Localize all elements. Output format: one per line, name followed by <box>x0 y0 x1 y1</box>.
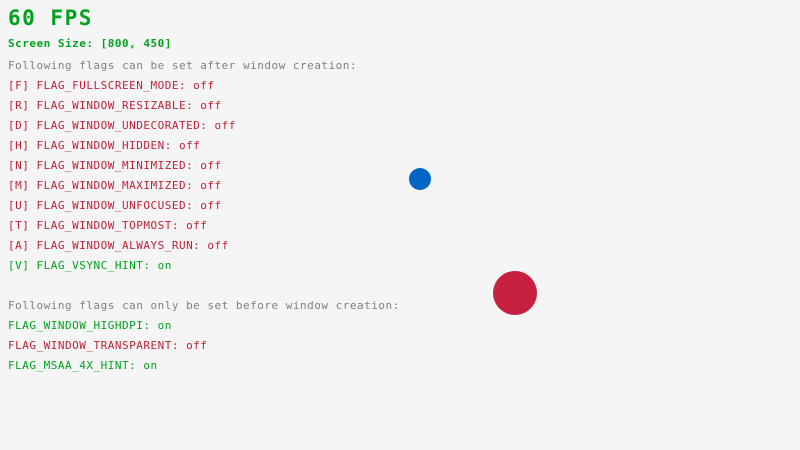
flag-line-flag-window-topmost[interactable]: [T] FLAG_WINDOW_TOPMOST: off <box>8 219 207 232</box>
flag-line-flag-window-maximized[interactable]: [M] FLAG_WINDOW_MAXIMIZED: off <box>8 179 222 192</box>
flag-line-flag-window-undecorated[interactable]: [D] FLAG_WINDOW_UNDECORATED: off <box>8 119 236 132</box>
flag-line-flag-window-minimized[interactable]: [N] FLAG_WINDOW_MINIMIZED: off <box>8 159 222 172</box>
after-creation-section-header: Following flags can be set after window … <box>8 59 357 72</box>
screen-size-label: Screen Size: [800, 450] <box>8 37 172 50</box>
flag-line-flag-msaa-4x-hint[interactable]: FLAG_MSAA_4X_HINT: on <box>8 359 158 372</box>
raylib-window-canvas[interactable]: 60 FPS Screen Size: [800, 450] Following… <box>0 0 800 450</box>
flag-line-flag-window-highdpi[interactable]: FLAG_WINDOW_HIGHDPI: on <box>8 319 172 332</box>
red-ball-shape <box>493 271 537 315</box>
flag-line-flag-window-always-run[interactable]: [A] FLAG_WINDOW_ALWAYS_RUN: off <box>8 239 229 252</box>
blue-ball-shape <box>409 168 431 190</box>
flag-line-flag-vsync-hint[interactable]: [V] FLAG_VSYNC_HINT: on <box>8 259 172 272</box>
flag-line-flag-window-unfocused[interactable]: [U] FLAG_WINDOW_UNFOCUSED: off <box>8 199 222 212</box>
flag-line-flag-window-hidden[interactable]: [H] FLAG_WINDOW_HIDDEN: off <box>8 139 200 152</box>
fps-counter: 60 FPS <box>8 6 93 30</box>
flag-line-flag-fullscreen-mode[interactable]: [F] FLAG_FULLSCREEN_MODE: off <box>8 79 215 92</box>
before-creation-section-header: Following flags can only be set before w… <box>8 299 400 312</box>
flag-line-flag-window-transparent[interactable]: FLAG_WINDOW_TRANSPARENT: off <box>8 339 207 352</box>
flag-line-flag-window-resizable[interactable]: [R] FLAG_WINDOW_RESIZABLE: off <box>8 99 222 112</box>
